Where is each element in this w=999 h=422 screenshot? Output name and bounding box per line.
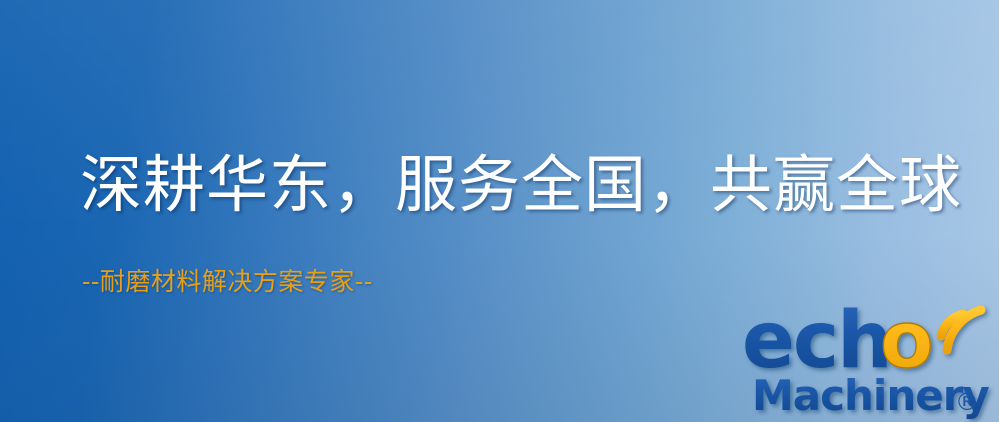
logo-tagline-machinery: Machinery <box>752 371 989 420</box>
banner-headline: 深耕华东，服务全国，共赢全球 <box>80 147 962 223</box>
hero-banner: 深耕华东，服务全国，共赢全球 --耐磨材料解决方案专家-- <box>0 0 999 422</box>
banner-subtitle: --耐磨材料解决方案专家-- <box>82 266 373 298</box>
signal-arcs-icon <box>941 310 981 350</box>
echo-machinery-logo[interactable]: ech o Machinery ® <box>742 288 999 422</box>
logo-registered-mark: ® <box>955 388 979 416</box>
